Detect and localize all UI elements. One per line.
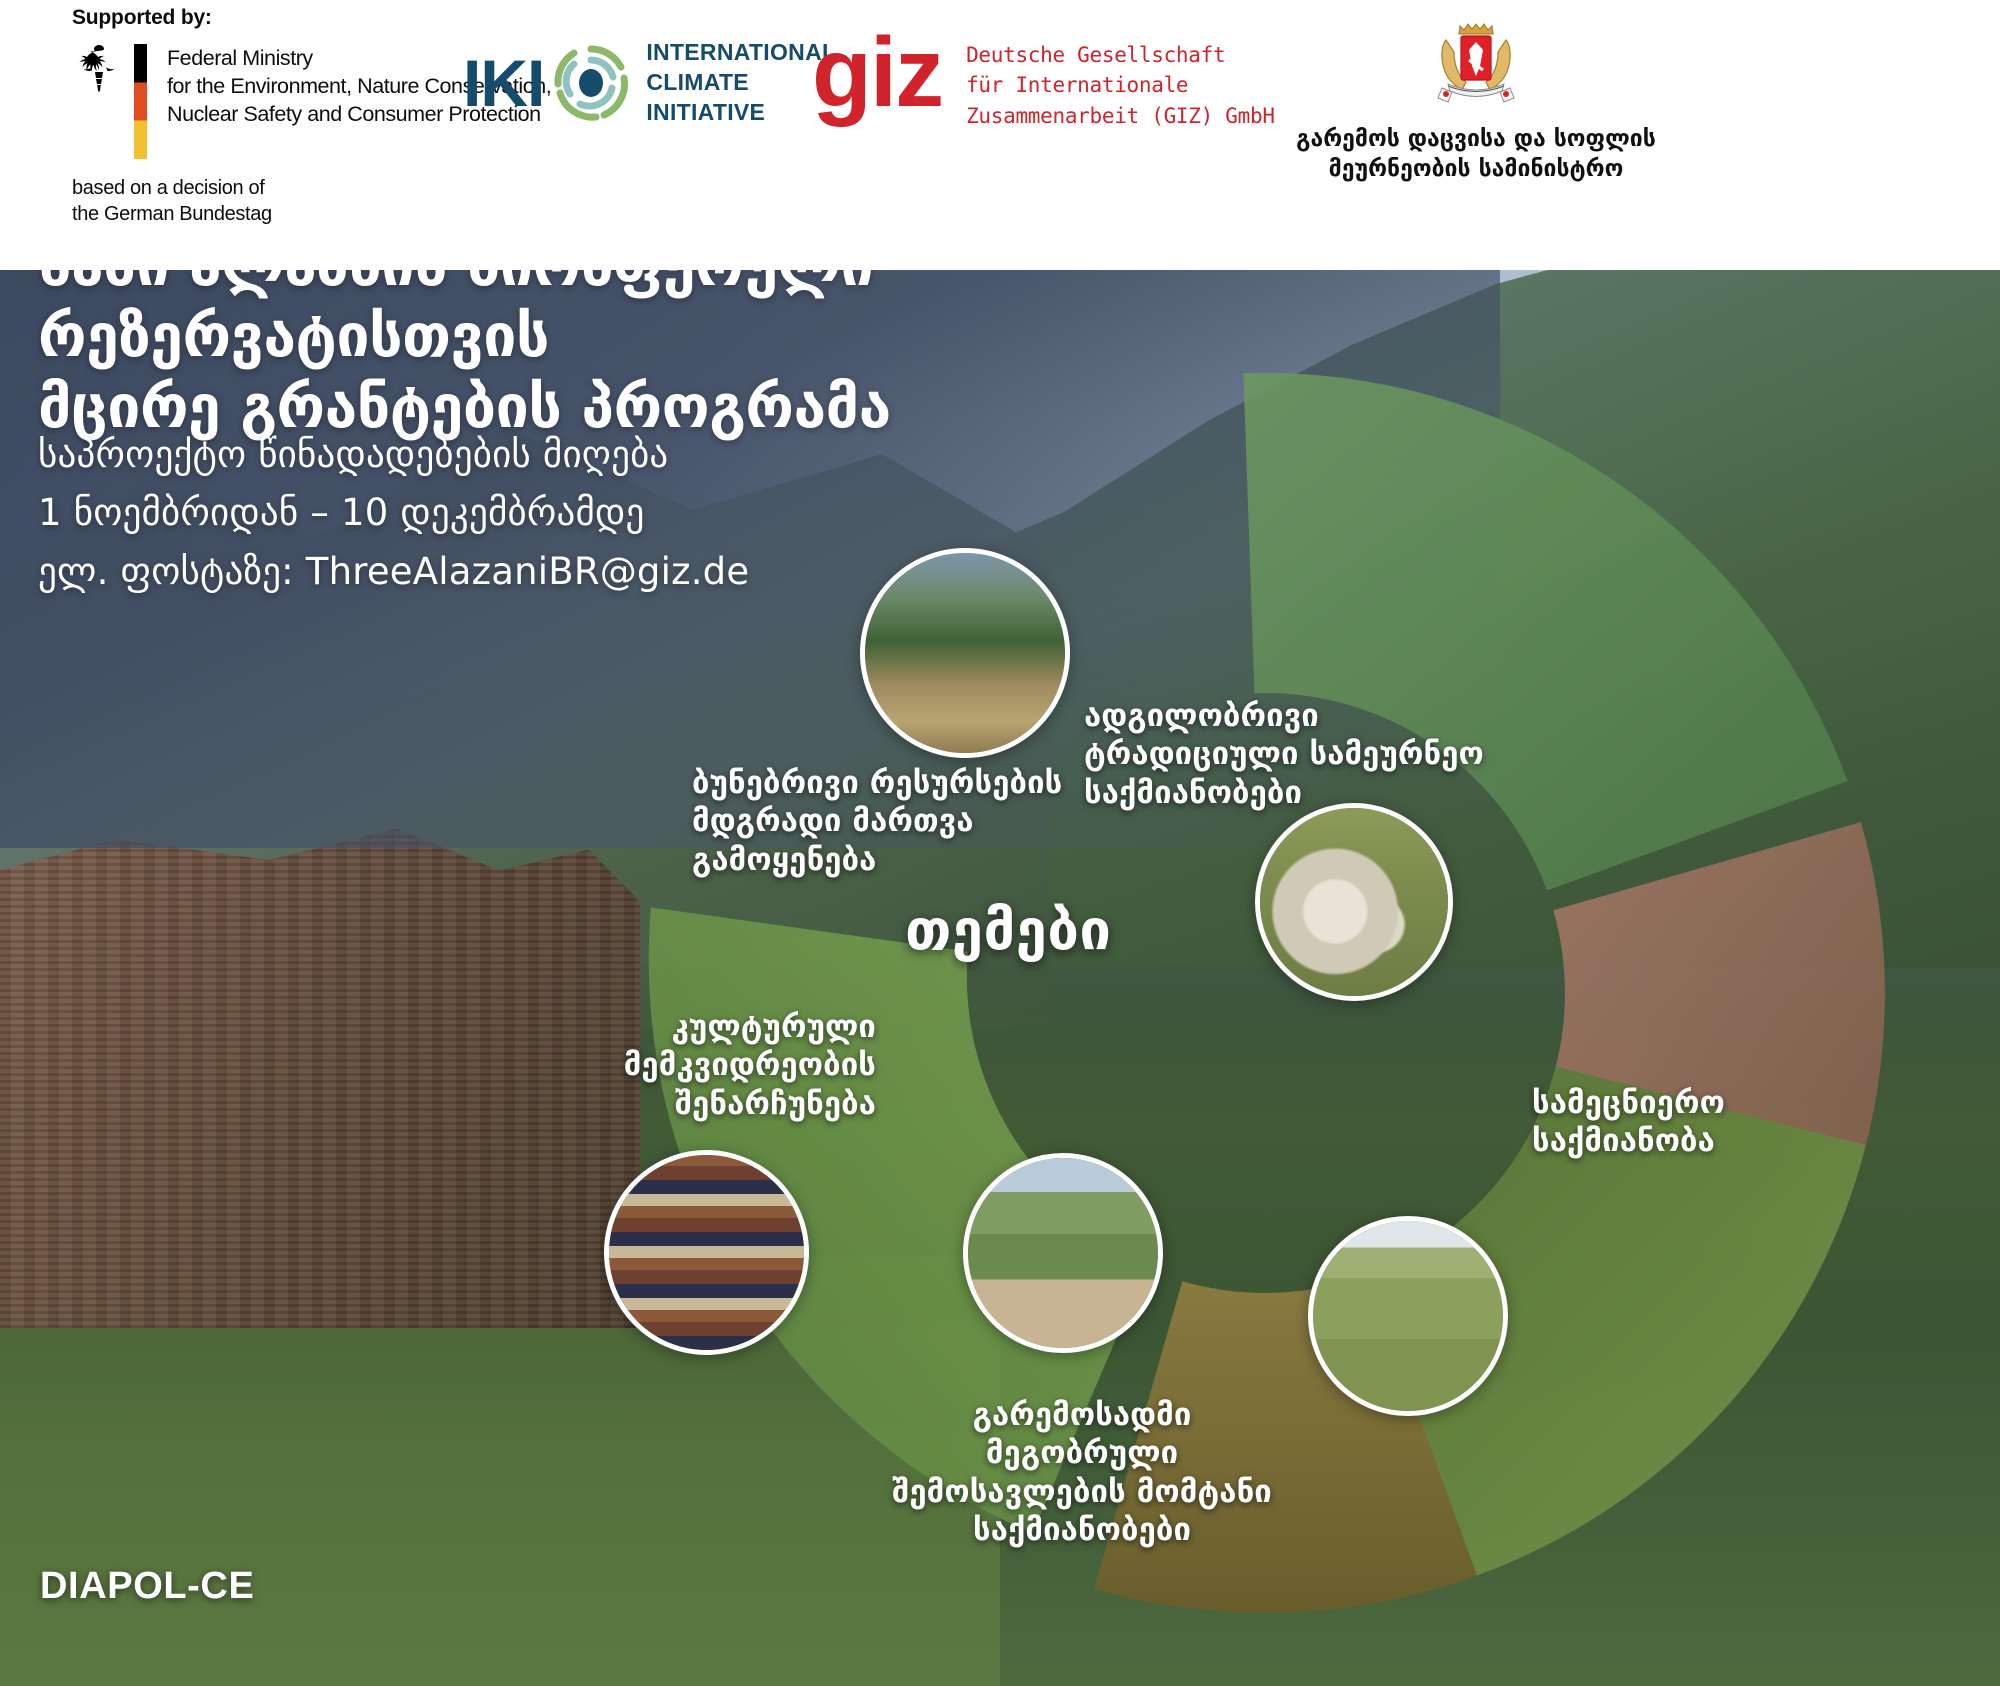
poster-body: სამი ალაზნის ბიოსფერული რეზერვატისთვის მ…: [0, 208, 2000, 1686]
iki-acronym: IKI: [463, 50, 544, 116]
wine-products-photo-image: [968, 1158, 1158, 1348]
village-photo-image: [865, 553, 1065, 753]
bundestag-note-line2: the German Bundestag: [72, 201, 272, 227]
carpet-photo-image: [609, 1155, 804, 1350]
german-eagle-icon: [72, 42, 126, 106]
giz-wordmark: giz: [812, 30, 942, 114]
iki-name-line1: INTERNATIONAL: [646, 38, 836, 68]
ministry-name-line2: მეურნეობის სამინისტრო: [1196, 154, 1756, 184]
submission-dates: 1 ნოემბრიდან – 10 დეკემბრამდე: [38, 484, 1038, 542]
sheep-photo-image: [1260, 808, 1448, 996]
supported-by-label: Supported by:: [72, 6, 212, 30]
village-photo: [860, 548, 1070, 758]
ministry-name: გარემოს დაცვისა და სოფლის მეურნეობის სამ…: [1196, 124, 1756, 185]
wine-products-photo: [963, 1153, 1163, 1353]
georgia-coat-of-arms-icon: [1196, 20, 1756, 112]
bundestag-note-line1: based on a decision of: [72, 175, 272, 201]
wheel-center-label: თემები: [905, 898, 1111, 963]
iki-name: INTERNATIONAL CLIMATE INITIATIVE: [646, 38, 836, 128]
segment-label-local-traditional: ადგილობრივი ტრადიციული სამეურნეო საქმიან…: [1084, 697, 1514, 812]
bundestag-note: based on a decision of the German Bundes…: [72, 175, 272, 227]
iki-logo: IKI INTERNATIONAL CLIMATE INITIATIVE: [463, 38, 836, 128]
iki-name-line3: INITIATIVE: [646, 98, 836, 128]
poster-subtitle-block: საპროექტო წინადადებების მიღება 1 ნოემბრი…: [38, 426, 1038, 601]
field-research-photo: [1308, 1216, 1508, 1416]
background-stone-ruin-texture: [0, 808, 640, 1328]
call-for-proposals-label: საპროექტო წინადადებების მიღება: [38, 426, 1038, 484]
german-flag-bar: [134, 44, 147, 159]
field-research-photo-image: [1313, 1221, 1503, 1411]
segment-label-scientific: სამეცნიერო საქმიანობა: [1532, 1084, 1792, 1161]
segment-label-line: კულტურული მემკვიდრეობის შენარჩუნება: [596, 1008, 876, 1123]
sheep-photo: [1255, 803, 1453, 1001]
segment-label-line: გარემოსადმი მეგობრული შემოსავლების მომტა…: [872, 1396, 1292, 1550]
segment-label-line: ადგილობრივი ტრადიციული სამეურნეო საქმიან…: [1084, 697, 1514, 812]
georgia-ministry-logo: გარემოს დაცვისა და სოფლის მეურნეობის სამ…: [1196, 20, 1756, 185]
iki-circles-icon: [552, 44, 630, 122]
project-tag: DIAPOL-CE: [40, 1565, 254, 1608]
segment-label-natural-resources: ბუნებრივი რესურსების მდგრადი მართვა გამო…: [692, 764, 1092, 879]
ministry-name-line1: გარემოს დაცვისა და სოფლის: [1196, 124, 1756, 154]
carpet-photo: [604, 1150, 809, 1355]
segment-label-cultural-heritage: კულტურული მემკვიდრეობის შენარჩუნება: [596, 1008, 876, 1123]
segment-label-line: სამეცნიერო საქმიანობა: [1532, 1084, 1792, 1161]
donor-logo-bar: Supported by: Federal Ministry for the E…: [0, 0, 2000, 270]
iki-name-line2: CLIMATE: [646, 68, 836, 98]
segment-label-line: ბუნებრივი რესურსების მდგრადი მართვა გამო…: [692, 764, 1092, 879]
segment-label-eco-income: გარემოსადმი მეგობრული შემოსავლების მომტა…: [872, 1396, 1292, 1550]
